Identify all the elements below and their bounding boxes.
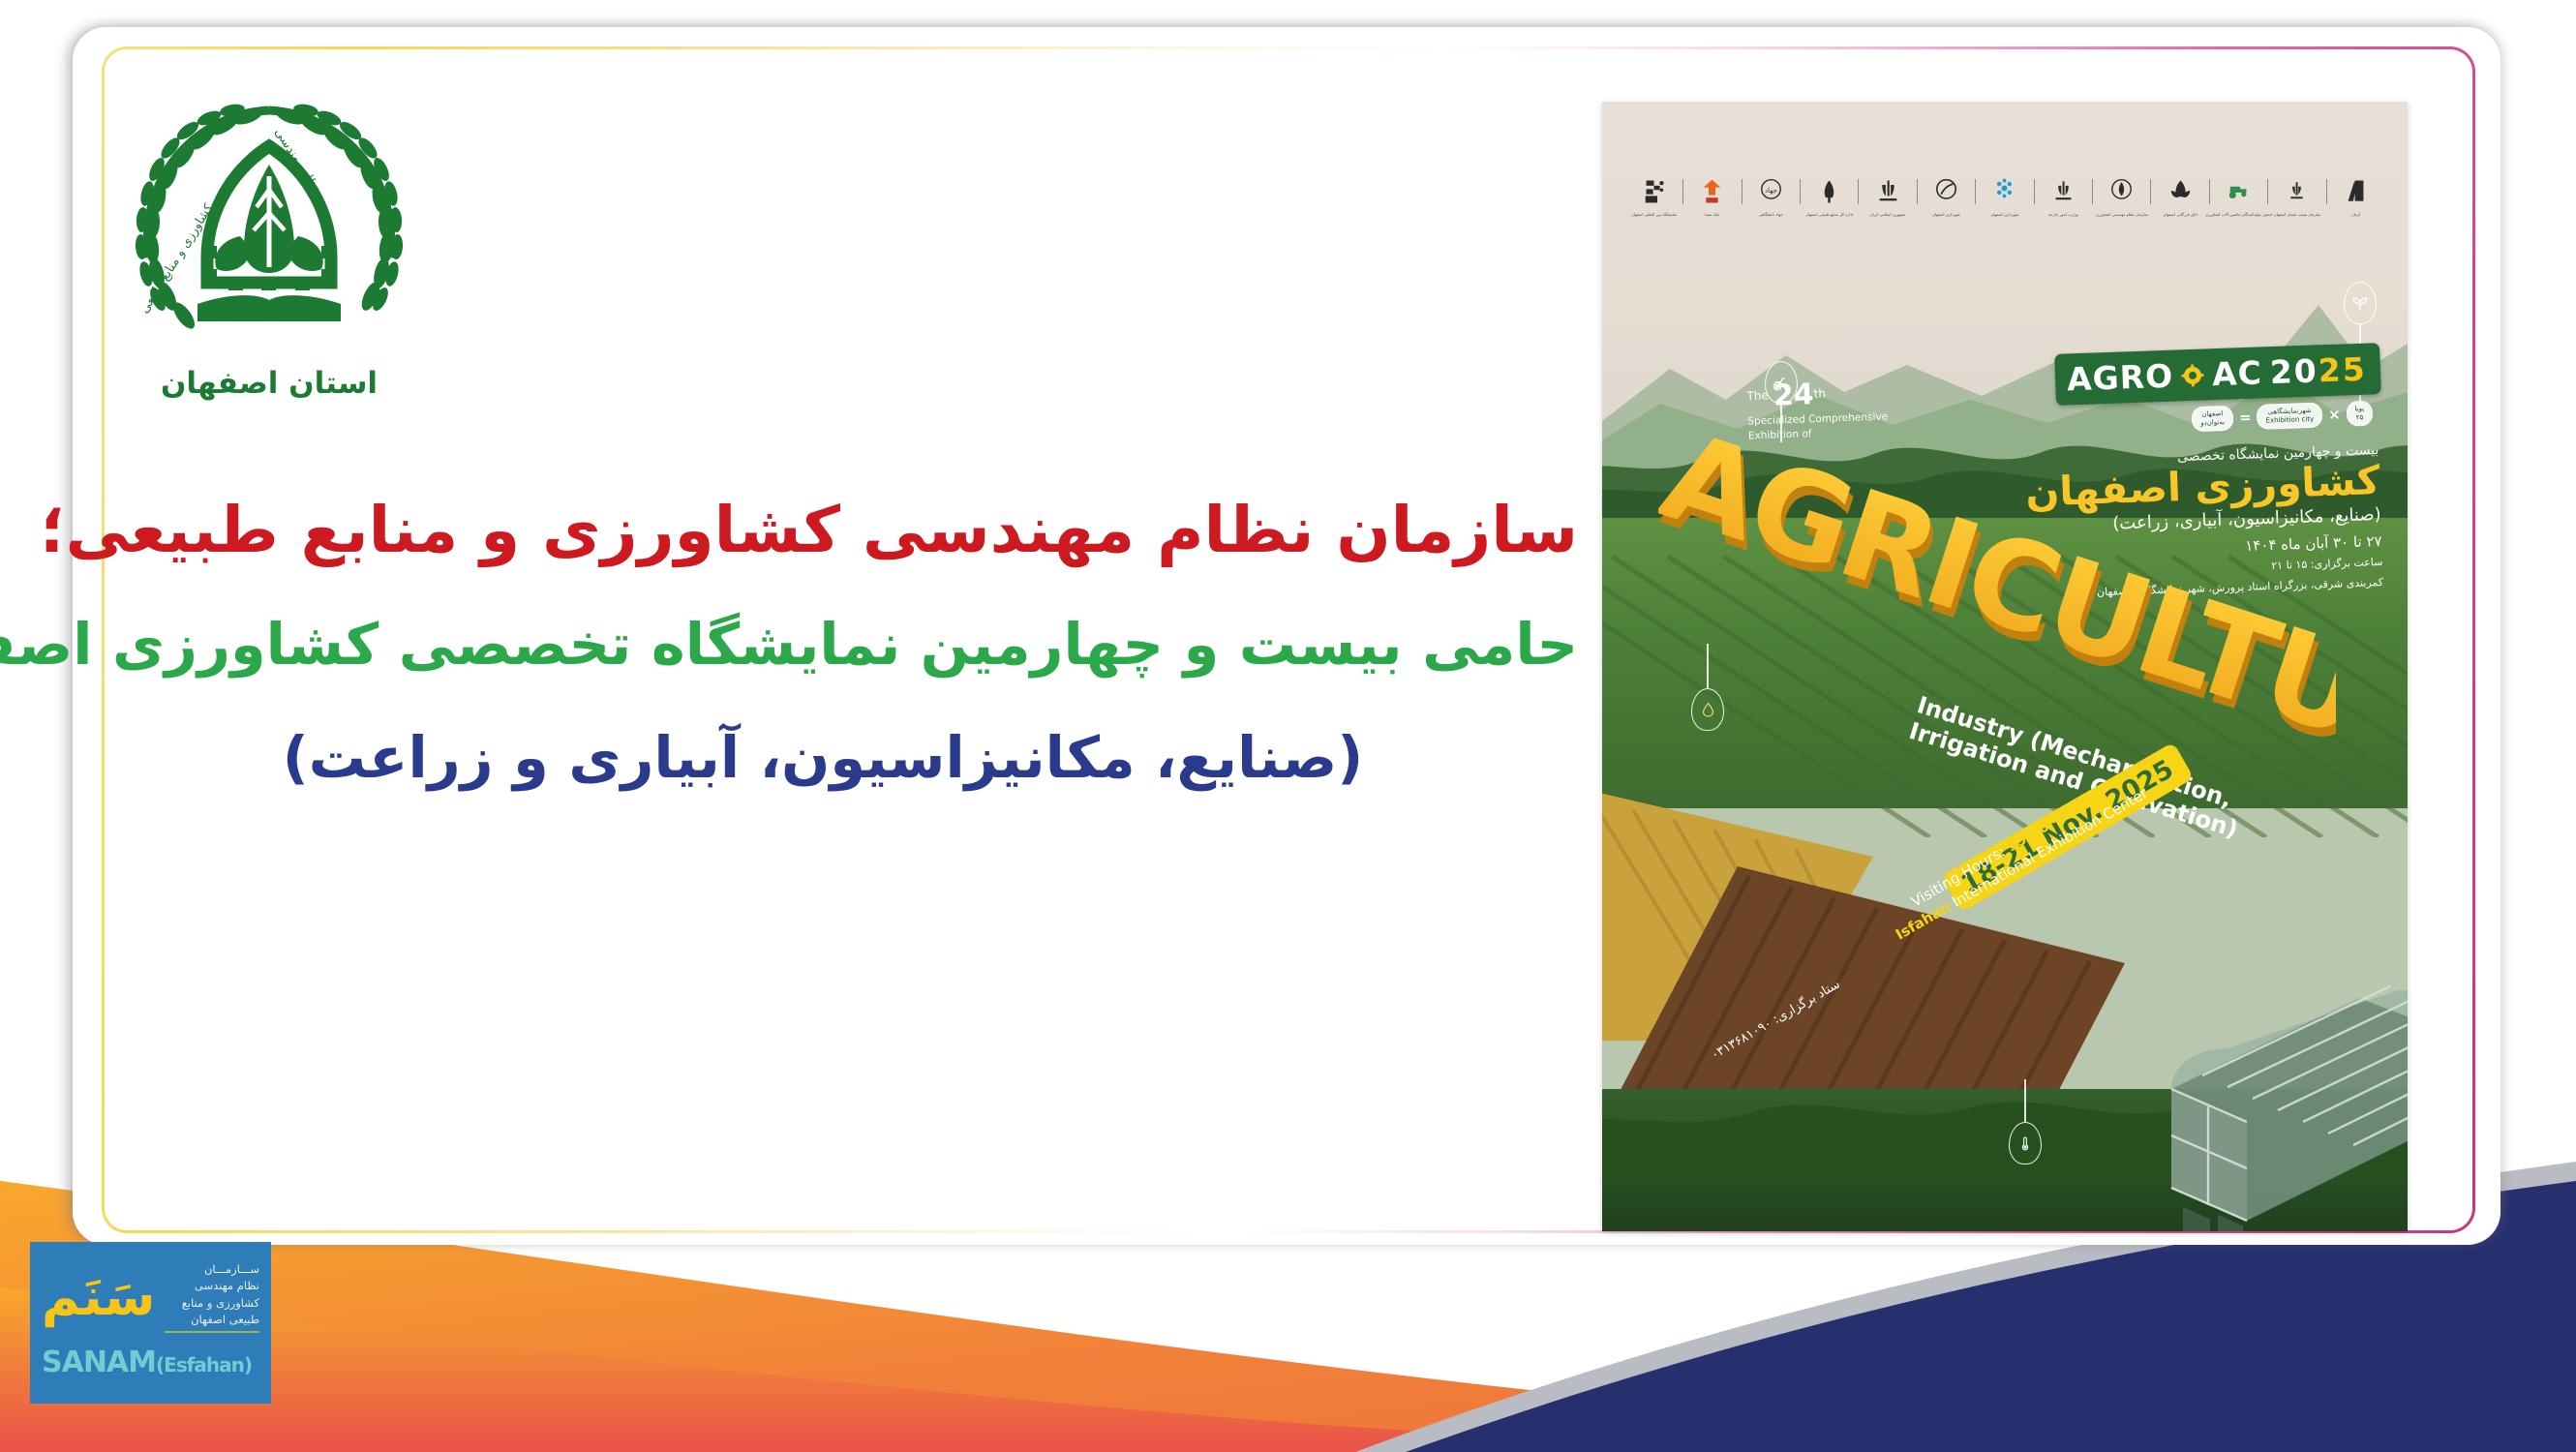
sponsor-divider	[2150, 179, 2151, 204]
edition-the: The	[1746, 388, 1769, 403]
sanam-wordmark-fa: سَنَم	[42, 1272, 156, 1321]
sponsor-logo-3: جهاد جهاد دانشگاهی	[1758, 177, 1784, 206]
sponsor-divider	[2092, 179, 2093, 204]
organization-emblem-caption: استان اصفهان	[124, 366, 414, 401]
sanam-en-paren: (Esfahan)	[156, 1353, 252, 1376]
edition-number: 24	[1773, 378, 1814, 412]
sanam-fullname-fa: ســـازمـــان نظام مهندسی کشاورزی و منابع…	[165, 1261, 260, 1334]
thermometer-icon	[2009, 1122, 2042, 1165]
sponsor-caption: جمهوری اسلامی ایران	[1870, 212, 1906, 217]
headline-line-org: سازمان نظام مهندسی کشاورزی و منابع طبیعی…	[68, 479, 1578, 583]
headline-line-sponsor: حامی بیست و چهارمین نمایشگاه تخصصی کشاور…	[68, 598, 1578, 691]
sponsor-logo-1: نمایشگاه بین المللی اصفهان	[1641, 177, 1667, 206]
sanam-fa-line1: ســـازمـــان	[165, 1261, 260, 1278]
poster-sponsor-logos: نمایشگاه بین المللی اصفهان بانک سینا جها…	[1641, 169, 2369, 214]
sponsor-logo-4: اداره کل منابع طبیعی اصفهان	[1816, 177, 1842, 206]
sponsor-logo-12: سازمان صمت استان اصفهان	[2284, 177, 2310, 206]
sponsor-divider	[1975, 179, 1976, 204]
sponsor-logo-8: وزارت امور خارجه	[2050, 177, 2076, 206]
sponsor-caption: نمایشگاه بین المللی اصفهان	[1631, 212, 1677, 217]
sponsor-caption: سازمان صمت استان اصفهان	[2274, 212, 2321, 217]
sponsor-logo-13: آرمان	[2343, 177, 2369, 206]
cog-letter-m-icon	[2181, 363, 2205, 387]
headline-line-sectors: (صنایع، مکانیزاسیون، آبیاری و زراعت)	[68, 711, 1578, 804]
sanam-fa-line2: نظام مهندسی	[165, 1278, 260, 1294]
sponsor-caption: سازمان نظام مهندسی کشاورزی	[2096, 212, 2148, 217]
sprout-icon	[2344, 282, 2377, 324]
sponsor-divider	[2209, 179, 2210, 204]
sanam-wordmark-en: SANAM(Esfahan)	[42, 1348, 259, 1377]
poster-greenhouse-icon	[2057, 973, 2408, 1231]
poster-pin-thermometer	[2009, 1079, 2042, 1165]
sanam-badge: سَنَم ســـازمـــان نظام مهندسی کشاورزی و…	[30, 1242, 271, 1404]
equation-chip-left: پویا ۲۵	[2346, 401, 2374, 426]
sanam-badge-top: سَنَم ســـازمـــان نظام مهندسی کشاورزی و…	[42, 1253, 259, 1342]
sponsor-caption: اتاق بازرگانی اصفهان	[2163, 212, 2197, 217]
edition-ordinal: th	[1813, 386, 1826, 400]
agriculture-3d-wordmark: AGRICULTURE AGRICULTURE	[1658, 421, 2336, 741]
sponsor-divider	[1742, 179, 1743, 204]
agromac-word: AGRO	[2067, 357, 2174, 399]
sponsor-divider	[2034, 179, 2035, 204]
sponsor-logo-9: سازمان نظام مهندسی کشاورزی	[2108, 177, 2135, 206]
sponsor-caption: شهرداری اصفهان	[1932, 212, 1960, 217]
sponsor-caption: آرمان	[2351, 212, 2360, 217]
sanam-fa-line3: کشاورزی و منابع طبیعی اصفهان	[165, 1295, 260, 1329]
sponsor-divider	[2267, 179, 2268, 204]
sponsor-caption: بانک سینا	[1705, 212, 1719, 217]
sponsor-caption: انجمن تولیدکنندگان ماشین آلات کشاورزی	[2205, 212, 2272, 217]
sponsor-divider	[2326, 179, 2327, 204]
sponsor-caption: جهاد دانشگاهی	[1759, 212, 1783, 217]
exhibition-poster-image: نمایشگاه بین المللی اصفهان بانک سینا جها…	[1602, 102, 2408, 1231]
sponsor-logo-2: بانک سینا	[1699, 177, 1725, 206]
svg-text:جهاد: جهاد	[1765, 186, 1777, 195]
agromac-year: 2025	[2269, 350, 2367, 391]
agromac-word-tail: AC	[2212, 353, 2263, 393]
sponsor-logo-5: جمهوری اسلامی ایران	[1875, 177, 1901, 206]
sponsor-caption: شهرداری اصفهان	[1990, 212, 2018, 217]
sponsor-logo-11: انجمن تولیدکنندگان ماشین آلات کشاورزی	[2226, 177, 2252, 206]
sponsor-divider	[1917, 179, 1918, 204]
sponsor-logo-10: اتاق بازرگانی اصفهان	[2167, 177, 2194, 206]
slide-canvas: کشاورزی و منابع طبیعی نظام مهندسی استان …	[0, 0, 2576, 1452]
edition-number-row: The 24th	[1746, 375, 1888, 413]
sponsor-divider	[1858, 179, 1859, 204]
organization-emblem-icon: کشاورزی و منابع طبیعی نظام مهندسی	[124, 93, 414, 383]
sponsor-caption: وزارت امور خارجه	[2048, 212, 2078, 217]
sponsor-logo-7: شهرداری اصفهان	[1991, 177, 2017, 206]
headline-block: سازمان نظام مهندسی کشاورزی و منابع طبیعی…	[68, 479, 1578, 804]
sponsor-divider	[1800, 179, 1801, 204]
pin-stem	[2024, 1079, 2026, 1122]
sponsor-caption: اداره کل منابع طبیعی اصفهان	[1805, 212, 1853, 217]
sanam-en-name: SANAM	[42, 1346, 156, 1379]
sponsor-logo-6: شهرداری اصفهان	[1933, 177, 1959, 206]
sponsor-divider	[1682, 179, 1683, 204]
